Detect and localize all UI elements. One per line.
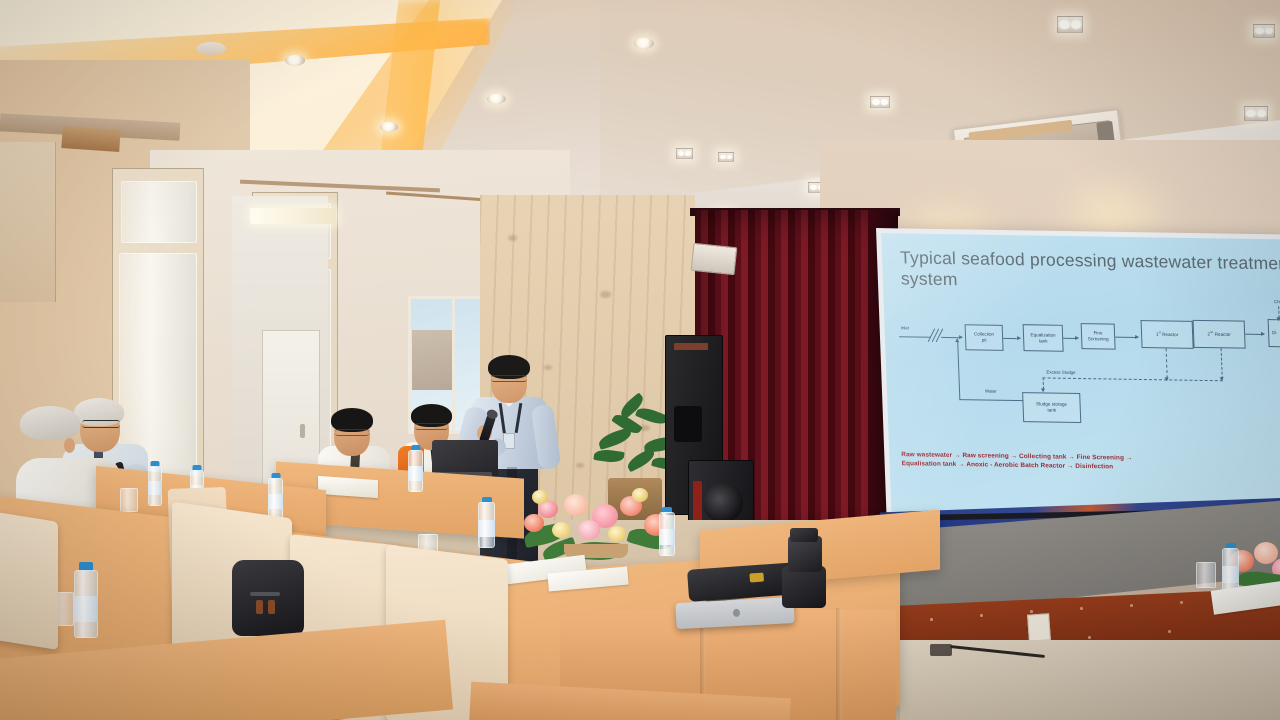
diagram-box-equalization-tank: Equalizationtank (1023, 324, 1064, 352)
process-flow-diagram: Inlet Collectionpit Equalizationtank (894, 305, 1280, 441)
water-bottle (268, 478, 283, 520)
slide-title: Typical seafood processing wastewater tr… (900, 247, 1280, 296)
backpack (232, 560, 304, 636)
arrow-icon (955, 338, 959, 342)
return-line-vert (957, 339, 960, 400)
downlight-icon (870, 96, 890, 108)
floor-socket-icon (930, 644, 952, 656)
wall-speaker (691, 243, 738, 275)
projection-screen: Typical seafood processing wastewater tr… (876, 228, 1280, 536)
arrow-icon (1261, 331, 1265, 335)
diagram-box-disinfection: Di (1268, 319, 1280, 348)
wood-bracket (61, 126, 120, 152)
flower-arrangement (520, 486, 680, 562)
connector (1115, 337, 1137, 338)
diagram-box-reactor-1: 1st Reactor (1141, 320, 1194, 349)
tablecloth-pleat (836, 608, 842, 720)
slide-caption: Raw wastewater → Raw screening → Collect… (901, 451, 1280, 475)
downlight-icon (1057, 16, 1083, 33)
projected-slide: Typical seafood processing wastewater tr… (881, 233, 1280, 520)
door-glass-upper (121, 181, 197, 243)
downlight-icon (1253, 24, 1275, 38)
diagram-label-excess-sludge: Excess Sludge (1046, 370, 1075, 375)
attendee-ear (64, 438, 75, 453)
glasses-icon (335, 429, 369, 436)
power-outlet-icon[interactable] (1027, 613, 1051, 641)
arrow-icon (959, 335, 963, 339)
door-handle-icon[interactable] (300, 424, 305, 438)
diagram-label-inlet: Inlet (901, 325, 910, 330)
arrow-icon (1135, 334, 1139, 338)
excess-sludge-header (1043, 377, 1223, 381)
diagram-box-fine-screening: FineScreening (1081, 323, 1116, 350)
arrow-icon (1017, 336, 1021, 340)
diagram-box-reactor-2: 2nd Reactor (1193, 320, 1246, 349)
water-bottle (408, 450, 423, 492)
glasses-icon (491, 375, 527, 382)
downlight-icon (676, 148, 693, 159)
return-line (959, 399, 1023, 401)
attendee-hair (20, 406, 80, 440)
arrow-icon (1276, 317, 1280, 321)
drinking-glass (1196, 562, 1216, 588)
water-bottle (478, 502, 495, 548)
diagram-label-water: Water (985, 389, 997, 394)
water-bottle (148, 466, 162, 506)
camera-lens-hood (790, 528, 818, 542)
downlight-icon (487, 94, 506, 104)
downlight-icon (1244, 106, 1268, 121)
sludge-line (1221, 348, 1223, 379)
pa-speaker-monitor (688, 460, 754, 528)
diagram-box-collection-pit: Collectionpit (965, 324, 1004, 351)
exterior-building (412, 330, 452, 390)
diagram-box-sludge-storage-tank: Sludge storagetank (1022, 392, 1081, 423)
chair[interactable] (0, 510, 58, 650)
downlight-icon (285, 55, 305, 66)
diagram-label-chlorine: Chl (1274, 299, 1280, 304)
strip-light-icon (250, 208, 336, 224)
conference-room-photo: Typical seafood processing wastewater tr… (0, 0, 1280, 720)
smoke-detector-icon (196, 42, 226, 55)
water-bottle (659, 512, 675, 556)
water-bottle (74, 570, 98, 638)
sludge-line (1166, 348, 1168, 378)
glasses-icon (415, 423, 448, 430)
arrow-icon (1075, 335, 1079, 339)
inlet-line (899, 336, 931, 338)
wall-notice (0, 142, 56, 302)
downlight-icon (380, 122, 398, 132)
drinking-glass (120, 488, 138, 512)
downlight-icon (634, 38, 654, 49)
dslr-camera (782, 566, 826, 608)
downlight-icon (718, 152, 734, 162)
